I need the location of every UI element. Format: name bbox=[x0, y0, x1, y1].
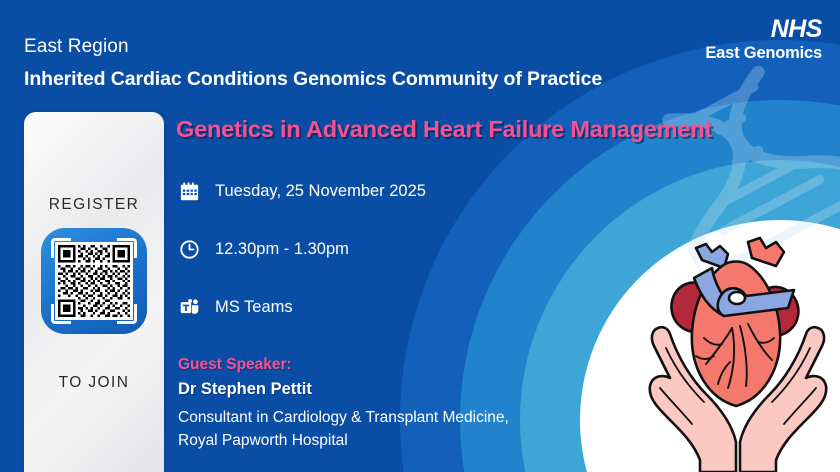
speaker-role-line-1: Consultant in Cardiology & Transplant Me… bbox=[178, 406, 509, 429]
event-poster: East Region Inherited Cardiac Conditions… bbox=[0, 0, 840, 472]
to-join-label: TO JOIN bbox=[24, 374, 164, 392]
hands-holding-heart-icon bbox=[636, 228, 840, 472]
talk-title: Genetics in Advanced Heart Failure Manag… bbox=[176, 116, 712, 143]
event-time: 12.30pm - 1.30pm bbox=[215, 240, 349, 259]
east-genomics-wordmark: East Genomics bbox=[705, 45, 822, 62]
speaker-role: Consultant in Cardiology & Transplant Me… bbox=[178, 406, 509, 453]
qr-code-tile[interactable] bbox=[41, 228, 147, 334]
speaker-role-line-2: Royal Papworth Hospital bbox=[178, 429, 509, 452]
event-venue: MS Teams bbox=[215, 298, 293, 317]
calendar-icon bbox=[178, 180, 200, 202]
register-card[interactable]: REGISTER bbox=[24, 112, 164, 472]
community-of-practice-label: Inherited Cardiac Conditions Genomics Co… bbox=[24, 68, 602, 91]
detail-row-date: Tuesday, 25 November 2025 bbox=[178, 180, 426, 202]
background-ring-white bbox=[580, 220, 840, 472]
region-label: East Region bbox=[24, 36, 129, 58]
background-ring-inner bbox=[520, 160, 840, 472]
speaker-block: Guest Speaker: Dr Stephen Pettit Consult… bbox=[178, 356, 509, 453]
qr-code-icon[interactable] bbox=[55, 242, 133, 320]
clock-icon bbox=[178, 238, 200, 260]
register-label: REGISTER bbox=[24, 196, 164, 214]
microsoft-teams-icon bbox=[178, 296, 200, 318]
guest-speaker-heading: Guest Speaker: bbox=[178, 356, 509, 374]
detail-row-time: 12.30pm - 1.30pm bbox=[178, 238, 349, 260]
detail-row-venue: MS Teams bbox=[178, 296, 293, 318]
speaker-name: Dr Stephen Pettit bbox=[178, 380, 509, 399]
poster-header: East Region Inherited Cardiac Conditions… bbox=[0, 0, 840, 108]
nhs-wordmark: NHS bbox=[705, 17, 822, 42]
nhs-east-genomics-logo: NHS East Genomics bbox=[705, 17, 822, 62]
background-ring-mid bbox=[460, 100, 840, 472]
event-date: Tuesday, 25 November 2025 bbox=[215, 182, 426, 201]
